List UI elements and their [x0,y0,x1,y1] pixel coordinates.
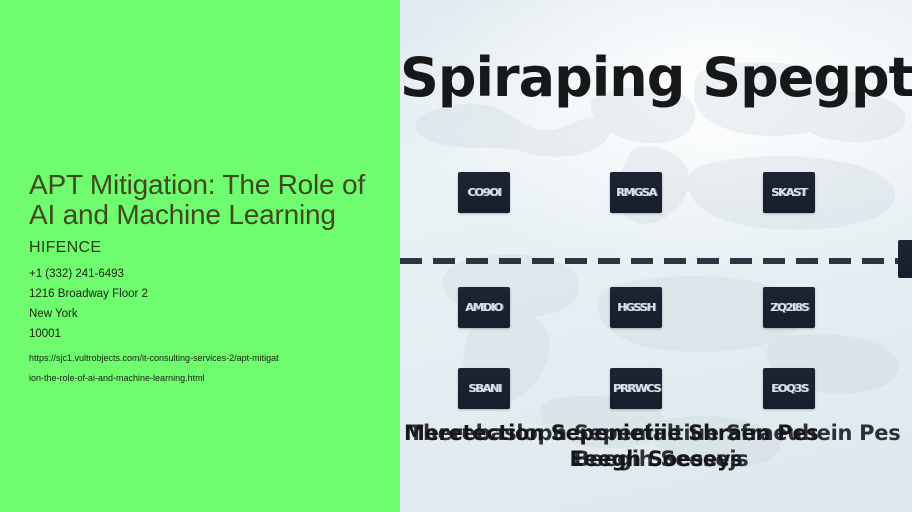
source-url[interactable]: https://sjc1.vultrobjects.com/it-consult… [29,348,374,388]
tile-edge-clipped[interactable] [898,240,912,278]
tile-r2c1[interactable]: AMDIO [458,287,510,328]
tile-r2c2[interactable]: HGSSH [610,287,662,328]
tile-r1c2-label: RMGSA [616,186,656,199]
tile-r2c1-label: AMDIO [466,301,503,314]
slide-caption-line1-b: Therebaslopn Sepenialtiue Sfraeuhein Pes [409,420,912,446]
slide-title: Spiraping Spegpty [400,47,912,109]
source-url-line-1: https://sjc1.vultrobjects.com/it-consult… [29,348,374,368]
tile-r2c2-label: HGSSH [617,301,655,314]
left-info-panel: APT Mitigation: The Role of AI and Machi… [0,0,400,512]
tile-r1c1-label: CO9OI [467,186,500,199]
tile-r1c3-label: SKAST [771,186,806,199]
contact-phone: +1 (332) 241-6493 [29,264,374,284]
tile-r3c2-label: PRRWCS [612,382,659,395]
slide-image-panel: Spiraping Spegpty CO9OI RMGSA SKAST AMDI… [400,0,912,512]
tile-r3c2[interactable]: PRRWCS [610,368,662,409]
tile-r1c1[interactable]: CO9OI [458,172,510,213]
source-url-line-2: ion-the-role-of-ai-and-machine-learning.… [29,368,374,388]
contact-address-street: 1216 Broadway Floor 2 [29,284,374,304]
contact-address-city: New York [29,304,374,324]
tile-r1c3[interactable]: SKAST [763,172,815,213]
tile-r3c1-label: SBANl [468,382,500,395]
slide-caption: Meretection Sepenietiie Shraen Pes There… [400,418,912,488]
tile-r3c1[interactable]: SBANl [458,368,510,409]
dashed-separator [400,258,912,264]
screenshot-root: APT Mitigation: The Role of AI and Machi… [0,0,912,512]
slide-caption-line2-b: Beegih Seesejs [405,446,912,472]
left-panel-content: APT Mitigation: The Role of AI and Machi… [29,170,374,388]
brand-name: HIFENCE [29,238,374,258]
tile-r1c2[interactable]: RMGSA [610,172,662,213]
tile-r2c3[interactable]: ZQ2I8S [763,287,815,328]
contact-address-zip: 10001 [29,324,374,344]
tile-r2c3-label: ZQ2I8S [770,301,808,314]
tile-r3c3[interactable]: EOQ3S [763,368,815,409]
page-title: APT Mitigation: The Role of AI and Machi… [29,170,374,230]
tile-r3c3-label: EOQ3S [771,382,808,395]
